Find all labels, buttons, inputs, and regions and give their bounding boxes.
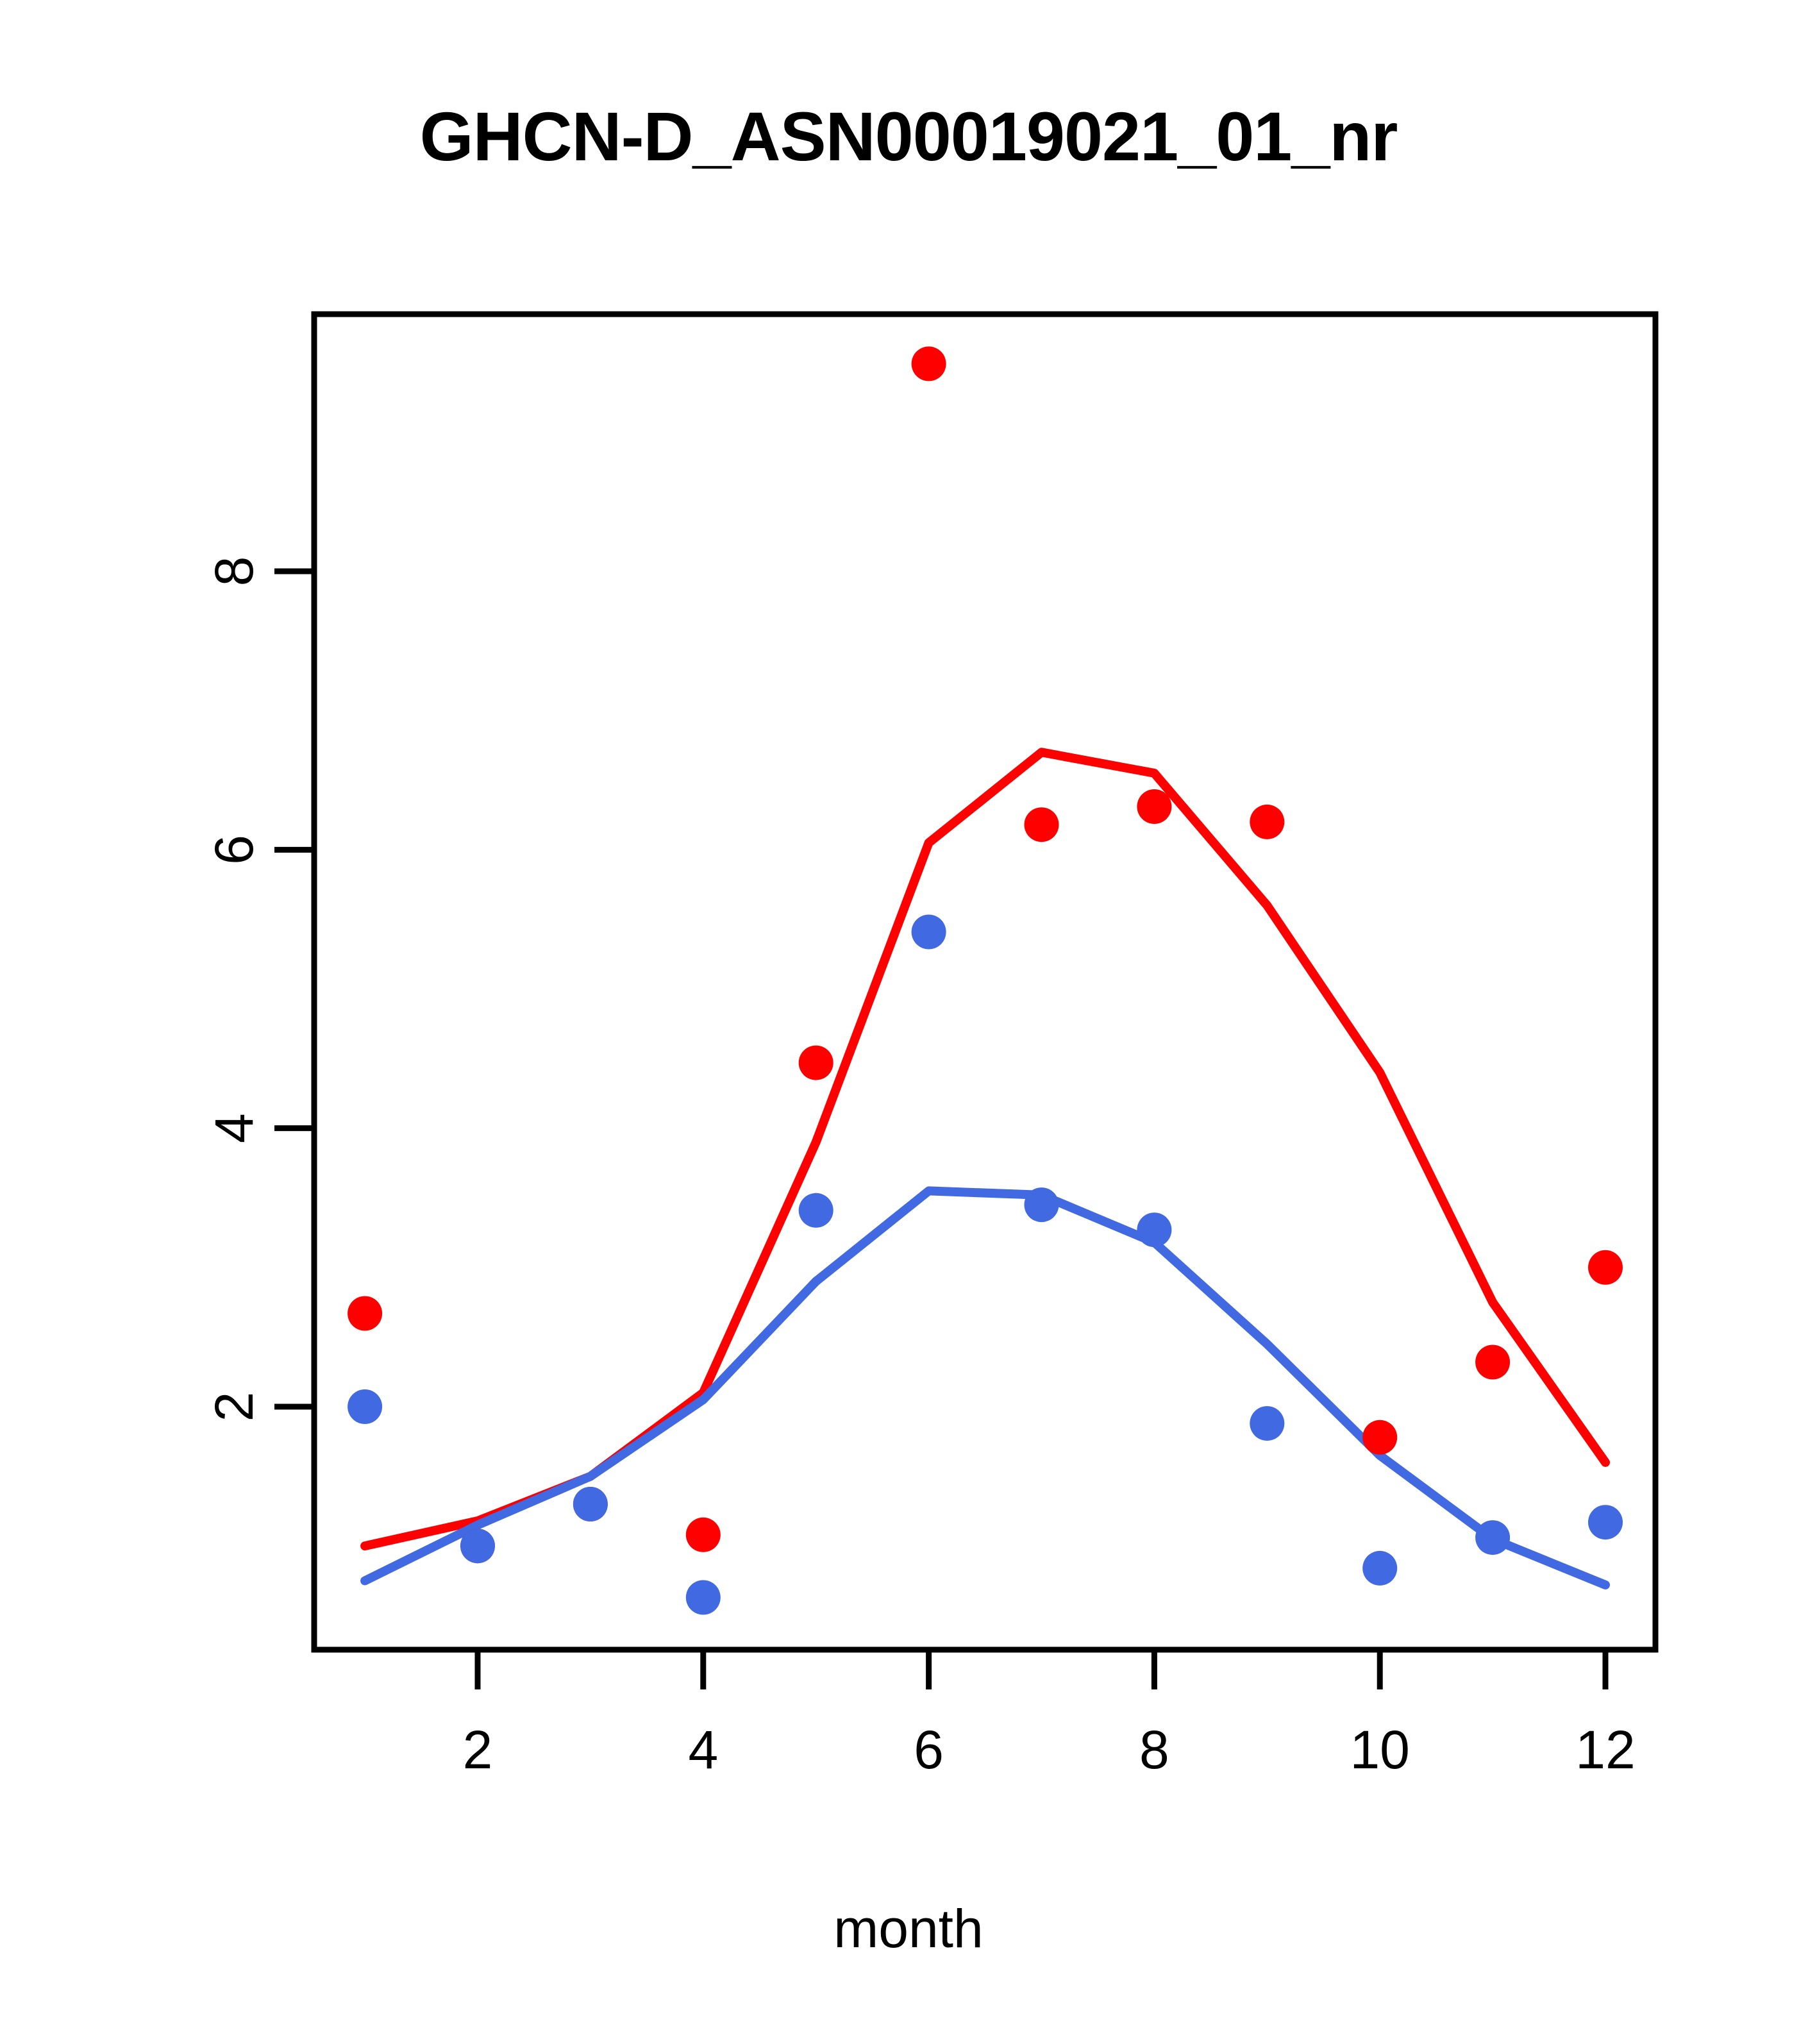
data-point-blue-points bbox=[686, 1580, 721, 1615]
x-tick-label: 8 bbox=[1139, 1720, 1169, 1780]
series-layer bbox=[347, 346, 1623, 1614]
x-tick-label: 4 bbox=[688, 1720, 718, 1780]
data-point-red-points bbox=[799, 1046, 833, 1080]
x-tick-label: 2 bbox=[463, 1720, 493, 1780]
series-line-red-line bbox=[365, 752, 1605, 1546]
data-point-red-points bbox=[1025, 807, 1059, 842]
axes-layer bbox=[274, 314, 1655, 1689]
data-point-red-points bbox=[1362, 1420, 1397, 1455]
data-point-blue-points bbox=[912, 915, 946, 950]
data-point-blue-points bbox=[460, 1529, 495, 1563]
data-point-red-points bbox=[1250, 805, 1284, 839]
data-point-blue-points bbox=[1588, 1505, 1623, 1539]
x-tick-label: 6 bbox=[914, 1720, 944, 1780]
tick-label-layer: 246810122468 bbox=[204, 557, 1636, 1780]
y-tick-label: 4 bbox=[204, 1113, 264, 1143]
y-tick-label: 2 bbox=[204, 1392, 264, 1422]
y-tick-label: 6 bbox=[204, 835, 264, 865]
x-tick-label: 12 bbox=[1575, 1720, 1635, 1780]
data-point-blue-points bbox=[1362, 1551, 1397, 1586]
plot-box bbox=[314, 314, 1655, 1650]
chart-root: GHCN-D_ASN00019021_01_nr 246810122468 mo… bbox=[0, 0, 1817, 2044]
plot-canvas: 246810122468 bbox=[0, 0, 1817, 2044]
data-point-blue-points bbox=[1137, 1212, 1171, 1247]
data-point-blue-points bbox=[1025, 1187, 1059, 1222]
data-point-red-points bbox=[1137, 789, 1171, 824]
data-point-blue-points bbox=[1250, 1406, 1284, 1441]
data-point-blue-points bbox=[799, 1193, 833, 1228]
x-axis-label: month bbox=[0, 1898, 1817, 1960]
data-point-red-points bbox=[912, 346, 946, 381]
data-point-blue-points bbox=[573, 1487, 608, 1521]
data-point-red-points bbox=[686, 1518, 721, 1552]
data-point-blue-points bbox=[347, 1389, 382, 1424]
data-point-red-points bbox=[347, 1296, 382, 1331]
series-line-blue-line bbox=[365, 1191, 1605, 1585]
data-point-blue-points bbox=[1475, 1520, 1510, 1555]
data-point-red-points bbox=[1588, 1250, 1623, 1285]
y-tick-label: 8 bbox=[204, 557, 264, 587]
data-point-red-points bbox=[1475, 1345, 1510, 1380]
x-tick-label: 10 bbox=[1350, 1720, 1409, 1780]
